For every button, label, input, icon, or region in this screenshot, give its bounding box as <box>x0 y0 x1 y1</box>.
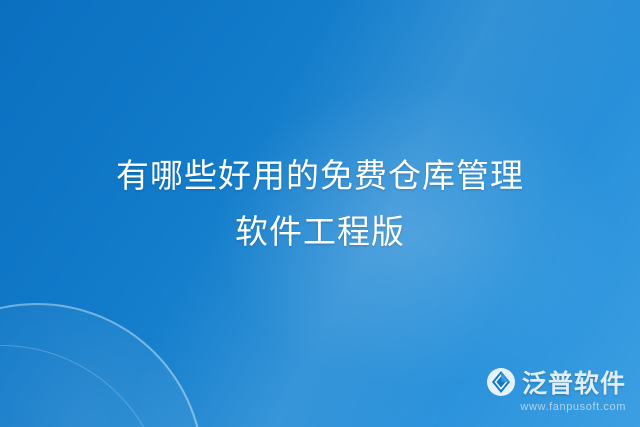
watermark-url: www.fanpusoft.com <box>520 401 626 413</box>
fanpu-diamond-logo-icon <box>486 367 516 397</box>
watermark: 泛普软件 www.fanpusoft.com <box>486 364 626 413</box>
slide-canvas: 有哪些好用的免费仓库管理 软件工程版 泛普软件 www.fanpusoft.co… <box>0 0 640 427</box>
title-line-1: 有哪些好用的免费仓库管理 <box>0 148 640 204</box>
watermark-brand-row: 泛普软件 <box>486 364 626 400</box>
decorative-arc-outer <box>0 345 167 427</box>
decorative-arc <box>0 303 204 427</box>
title-line-2: 软件工程版 <box>0 204 640 260</box>
slide-title: 有哪些好用的免费仓库管理 软件工程版 <box>0 148 640 260</box>
watermark-brand-name: 泛普软件 <box>522 364 626 400</box>
